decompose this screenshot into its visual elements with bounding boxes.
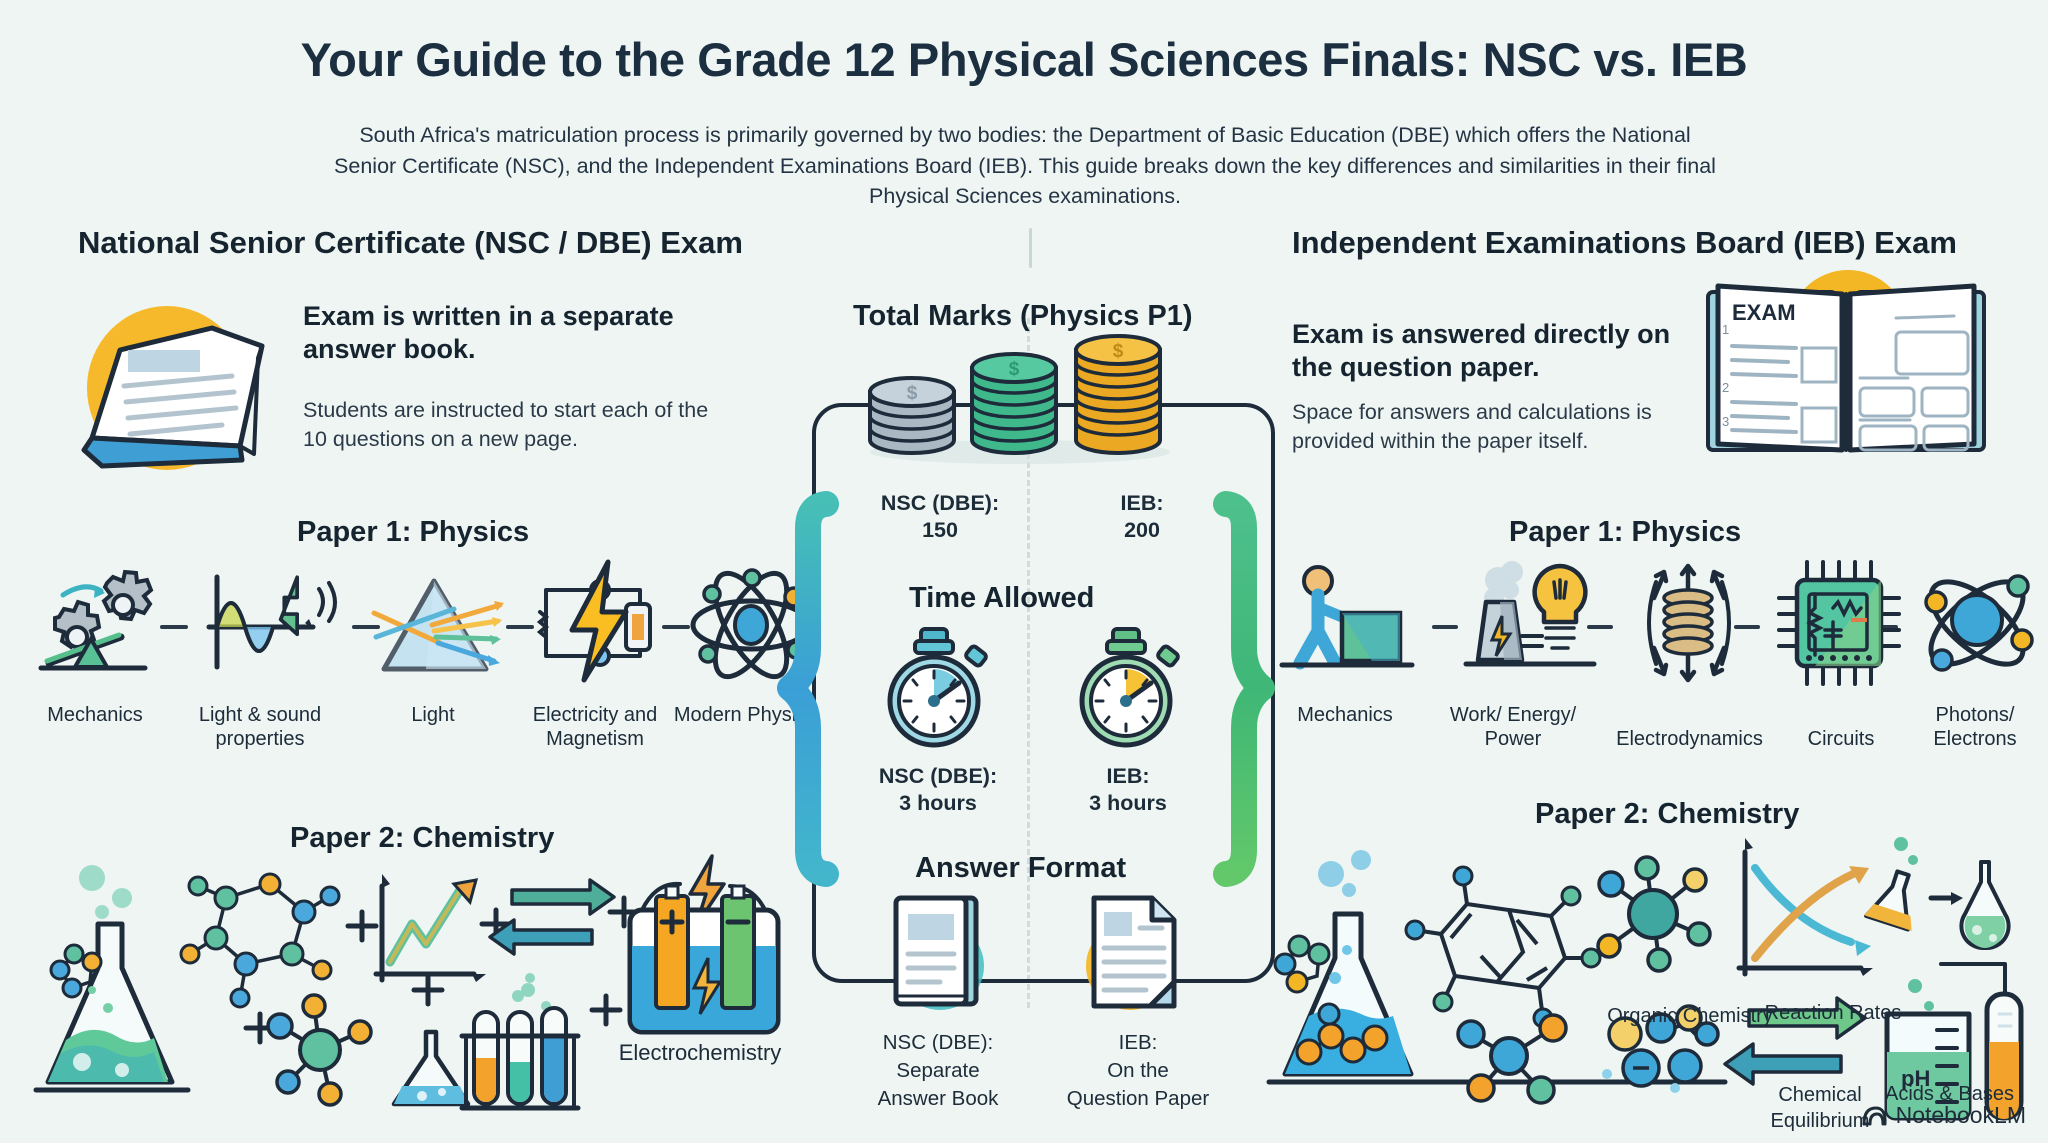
right-brace — [1222, 498, 1266, 880]
left-brace — [786, 498, 830, 880]
time-ieb-label: IEB: — [1028, 763, 1228, 790]
answer-book-icon — [62, 288, 292, 488]
electrodynamics-coil-icon — [1618, 558, 1758, 688]
right-callout-body: Space for answers and calculations is pr… — [1292, 398, 1692, 456]
right-topic-label-rates: Reaction Rates — [1758, 1000, 1908, 1026]
exam-book-cover-label: EXAM — [1732, 300, 1796, 325]
mechanics-gears-icon — [35, 565, 155, 685]
marks-nsc-value: 150 — [840, 517, 1040, 544]
notebooklm-logo-icon — [1861, 1105, 1887, 1127]
left-column-heading: National Senior Certificate (NSC / DBE) … — [78, 225, 743, 261]
format-nsc-value-2: Answer Book — [838, 1086, 1038, 1111]
answer-book-small-icon — [878, 890, 998, 1020]
right-callout-lead: Exam is answered directly on the questio… — [1292, 318, 1692, 384]
right-column-heading: Independent Examinations Board (IEB) Exa… — [1292, 225, 1957, 261]
left-topic-label-0: Mechanics — [20, 703, 170, 727]
prism-light-icon — [368, 565, 508, 685]
right-topic-label-4: Photons/ Electrons — [1900, 703, 2048, 751]
format-nsc-value-1: Separate — [838, 1058, 1038, 1083]
marks-nsc-label: NSC (DBE): — [840, 490, 1040, 517]
page-title: Your Guide to the Grade 12 Physical Scie… — [0, 32, 2048, 87]
stopwatch-ieb-icon — [1063, 625, 1189, 751]
time-nsc-label: NSC (DBE): — [838, 763, 1038, 790]
marks-ieb-label: IEB: — [1042, 490, 1242, 517]
infographic-canvas: Your Guide to the Grade 12 Physical Scie… — [0, 0, 2048, 1143]
right-topic-label-organic: Organic Chemistry — [1600, 1003, 1780, 1029]
left-paper1-title: Paper 1: Physics — [297, 516, 529, 549]
format-ieb-label: IEB: — [1038, 1030, 1238, 1055]
time-allowed-title: Time Allowed — [909, 582, 1094, 615]
svg-text:2: 2 — [1722, 380, 1729, 395]
left-topic-label-2: Light — [358, 703, 508, 727]
format-ieb-value-2: Question Paper — [1023, 1086, 1253, 1111]
answer-format-title: Answer Format — [915, 852, 1126, 885]
open-exam-book-icon: EXAM 1 2 3 — [1700, 268, 1990, 458]
format-nsc-label: NSC (DBE): — [838, 1030, 1038, 1055]
svg-text:$: $ — [1009, 359, 1020, 380]
left-topic-label-1: Light & sound properties — [160, 703, 360, 751]
total-marks-title: Total Marks (Physics P1) — [853, 300, 1193, 333]
marks-ieb-value: 200 — [1042, 517, 1242, 544]
left-topic-label-3: Electricity and Magnetism — [500, 703, 690, 751]
svg-text:3: 3 — [1722, 414, 1729, 429]
left-callout-lead: Exam is written in a separate answer boo… — [303, 300, 703, 366]
right-paper2-title: Paper 2: Chemistry — [1535, 798, 1799, 831]
left-topic-label-electrochemistry: Electrochemistry — [580, 1040, 820, 1066]
question-paper-icon — [1070, 890, 1190, 1020]
right-topic-label-1: Work/ Energy/ Power — [1437, 703, 1589, 751]
right-topic-label-3: Circuits — [1766, 727, 1916, 751]
circuits-chip-icon — [1775, 558, 1905, 688]
header-divider — [1029, 228, 1032, 268]
time-nsc-value: 3 hours — [838, 790, 1038, 817]
light-sound-wave-icon — [195, 565, 345, 685]
photons-electrons-atom-icon — [1912, 558, 2042, 688]
stopwatch-nsc-icon — [871, 625, 997, 751]
right-topic-label-2: Electrodynamics — [1592, 727, 1787, 751]
svg-text:1: 1 — [1722, 322, 1729, 337]
coin-stacks-icon: $ $ $ — [860, 330, 1180, 460]
right-paper1-title: Paper 1: Physics — [1509, 516, 1741, 549]
time-ieb-value: 3 hours — [1028, 790, 1228, 817]
work-energy-power-icon — [1458, 552, 1598, 682]
svg-text:$: $ — [1113, 341, 1124, 362]
mechanics-person-icon — [1276, 565, 1416, 685]
left-callout-body: Students are instructed to start each of… — [303, 396, 713, 454]
left-chemistry-cluster — [30, 850, 810, 1120]
format-ieb-value-1: On the — [1038, 1058, 1238, 1083]
electricity-magnetism-icon — [522, 552, 672, 692]
notebooklm-watermark: NotebookLM — [1861, 1102, 2026, 1129]
notebooklm-label: NotebookLM — [1896, 1102, 2026, 1129]
right-topic-label-0: Mechanics — [1265, 703, 1425, 727]
svg-text:$: $ — [907, 383, 918, 404]
page-subtitle: South Africa's matriculation process is … — [330, 120, 1720, 212]
